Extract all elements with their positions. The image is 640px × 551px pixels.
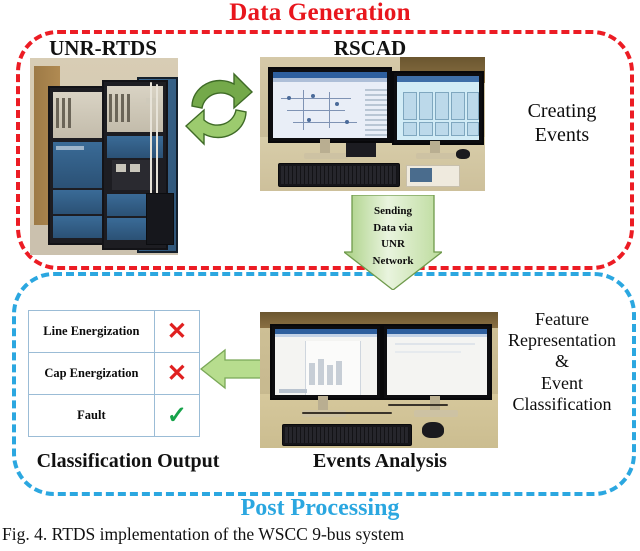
photo-rscad-workstation [260,57,485,191]
feature-line-4: Event [492,373,632,394]
photo-unr-rtds-racks [30,58,178,255]
feature-line-2: Representation [492,330,632,351]
sending-data-arrow-label: Sending Data via UNR Network [344,203,442,270]
table-row-label: Fault [29,395,155,437]
photo-events-analysis-workstation [260,312,498,448]
panel-heading-events-analysis: Events Analysis [260,450,500,473]
table-row-result: ✕ [154,353,199,395]
panel-heading-classification-output: Classification Output [8,450,248,473]
section-title-post-processing: Post Processing [0,495,640,522]
table-row: Fault ✓ [29,395,200,437]
results-left-arrow [199,348,261,390]
feature-line-5: Classification [492,394,632,415]
table-row-result: ✓ [154,395,199,437]
arrow-label-line-3: UNR [344,236,442,253]
arrow-label-line-4: Network [344,253,442,270]
sending-data-arrow: Sending Data via UNR Network [344,195,442,290]
figure-caption: Fig. 4. RTDS implementation of the WSCC … [2,524,638,545]
feature-line-3: & [492,351,632,372]
arrow-label-line-1: Sending [344,203,442,220]
table-row-result: ✕ [154,311,199,353]
section-title-data-generation: Data Generation [0,0,640,27]
table-row: Line Energization ✕ [29,311,200,353]
table-row: Cap Energization ✕ [29,353,200,395]
creating-events-line-1: Creating [497,100,627,124]
feature-line-1: Feature [492,309,632,330]
creating-events-line-2: Events [497,124,627,148]
table-row-label: Line Energization [29,311,155,353]
annotation-feature-representation: Feature Representation & Event Classific… [492,309,632,415]
bidirectional-cycle-arrow [182,62,256,154]
figure-rtds-implementation: Data Generation UNR-RTDS RSCAD Classific… [0,0,640,551]
table-row-label: Cap Energization [29,353,155,395]
arrow-label-line-2: Data via [344,220,442,237]
classification-output-table: Line Energization ✕ Cap Energization ✕ F… [28,310,200,437]
annotation-creating-events: Creating Events [497,100,627,147]
